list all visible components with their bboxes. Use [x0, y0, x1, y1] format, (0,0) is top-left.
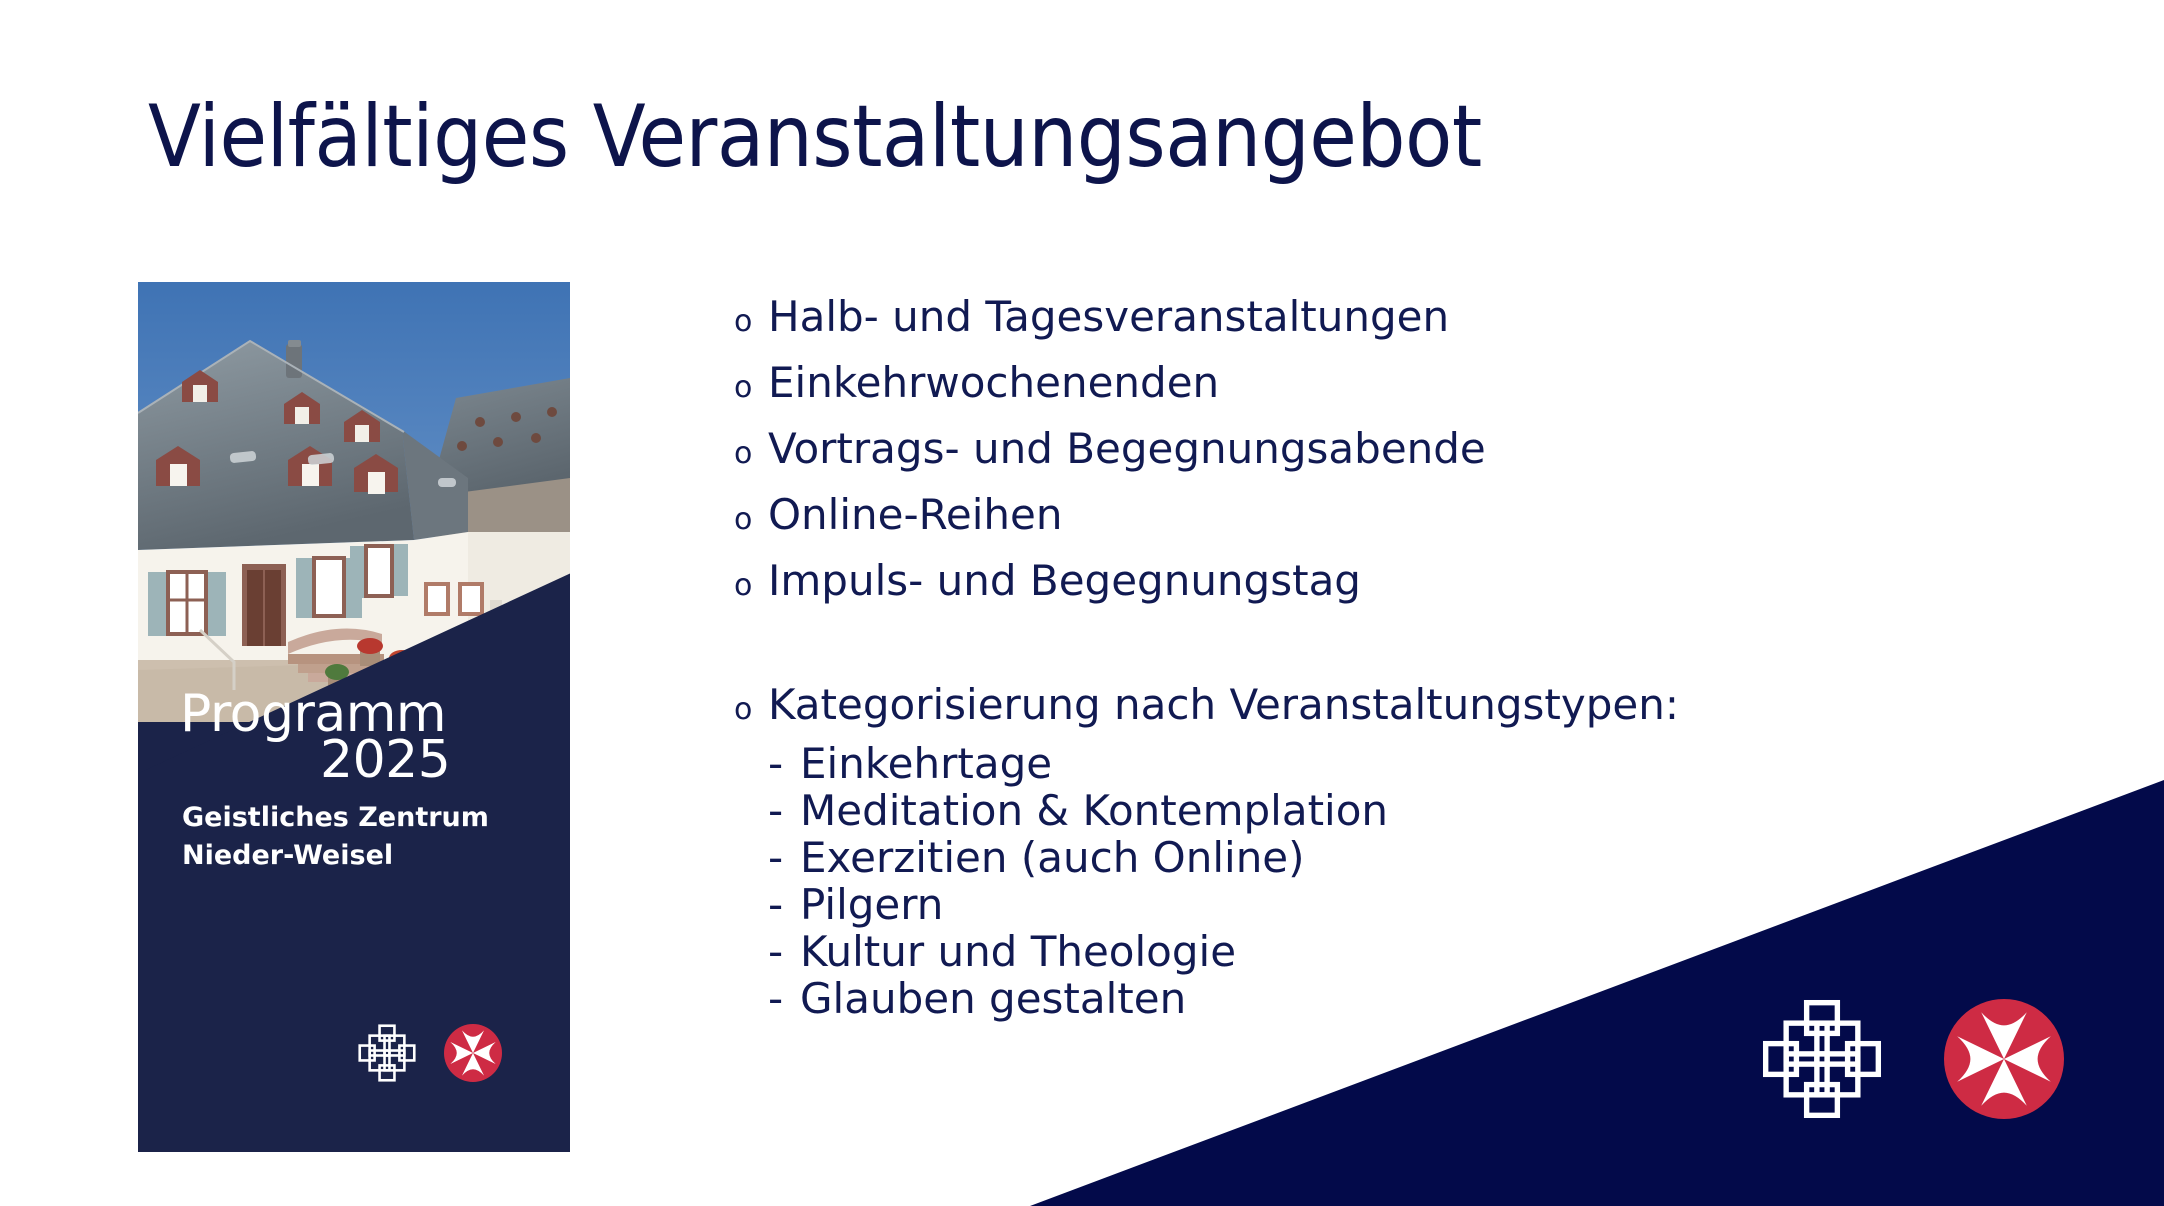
- dash-marker-icon: -: [768, 975, 800, 1022]
- list-item: o Impuls- und Begegnungstag: [734, 550, 1914, 616]
- dash-marker-icon: -: [768, 834, 800, 881]
- bullet-marker-icon: o: [734, 357, 768, 418]
- sub-list-item: - Glauben gestalten: [734, 975, 1914, 1022]
- sub-list-item: - Pilgern: [734, 881, 1914, 928]
- sub-list-item: - Exerzitien (auch Online): [734, 834, 1914, 881]
- page-title: Vielfältiges Veranstaltungsangebot: [148, 92, 1482, 183]
- dash-marker-icon: -: [768, 881, 800, 928]
- dash-marker-icon: -: [768, 787, 800, 834]
- list-item: o Halb- und Tagesveranstaltungen: [734, 286, 1914, 352]
- list-item: o Online-Reihen: [734, 484, 1914, 550]
- list-item: o Einkehrwochenenden: [734, 352, 1914, 418]
- sub-list-item: - Kultur und Theologie: [734, 928, 1914, 975]
- bullet-marker-icon: o: [734, 291, 768, 352]
- corner-logo-group: [1758, 995, 2064, 1123]
- maltese-cross-icon: [444, 1024, 502, 1082]
- brochure-subtitle-line1: Geistliches Zentrum: [182, 802, 489, 833]
- bullet-marker-icon: o: [734, 423, 768, 484]
- sub-list-item-label: Einkehrtage: [800, 740, 1052, 787]
- brochure-cover-card: Programm 2025 Geistliches Zentrum Nieder…: [138, 282, 570, 1152]
- list-item-label: Halb- und Tagesveranstaltungen: [768, 286, 1449, 347]
- sub-list-item-label: Meditation & Kontemplation: [800, 787, 1388, 834]
- brochure-logo-group: [356, 1022, 502, 1084]
- category-heading-label: Kategorisierung nach Veranstaltungstypen…: [768, 674, 1679, 735]
- dash-marker-icon: -: [768, 740, 800, 787]
- brochure-text-block: Programm 2025 Geistliches Zentrum Nieder…: [138, 282, 570, 1152]
- content-list: o Halb- und Tagesveranstaltungen o Einke…: [734, 286, 1914, 1022]
- list-item-label: Impuls- und Begegnungstag: [768, 550, 1361, 611]
- sub-list-item-label: Glauben gestalten: [800, 975, 1186, 1022]
- dash-marker-icon: -: [768, 928, 800, 975]
- johanniter-square-cross-icon: [356, 1022, 418, 1084]
- bullet-marker-icon: o: [734, 489, 768, 550]
- sub-list-item-label: Pilgern: [800, 881, 943, 928]
- johanniter-square-cross-icon: [1758, 995, 1886, 1123]
- list-item: o Vortrags- und Begegnungsabende: [734, 418, 1914, 484]
- list-item-label: Einkehrwochenenden: [768, 352, 1219, 413]
- bullet-marker-icon: o: [734, 555, 768, 616]
- list-item-label: Vortrags- und Begegnungsabende: [768, 418, 1486, 479]
- list-group-spacer: [734, 616, 1914, 674]
- bullet-marker-icon: o: [734, 679, 768, 740]
- maltese-cross-icon: [1944, 999, 2064, 1119]
- sub-list-item: - Meditation & Kontemplation: [734, 787, 1914, 834]
- brochure-program-year: 2025: [320, 730, 450, 790]
- slide-canvas: Vielfältiges Veranstaltungsangebot o Hal…: [0, 0, 2164, 1206]
- brochure-subtitle-line2: Nieder-Weisel: [182, 840, 393, 871]
- category-heading-row: o Kategorisierung nach Veranstaltungstyp…: [734, 674, 1914, 740]
- sub-list-item-label: Exerzitien (auch Online): [800, 834, 1305, 881]
- sub-list-item: - Einkehrtage: [734, 740, 1914, 787]
- sub-list-item-label: Kultur und Theologie: [800, 928, 1236, 975]
- list-item-label: Online-Reihen: [768, 484, 1063, 545]
